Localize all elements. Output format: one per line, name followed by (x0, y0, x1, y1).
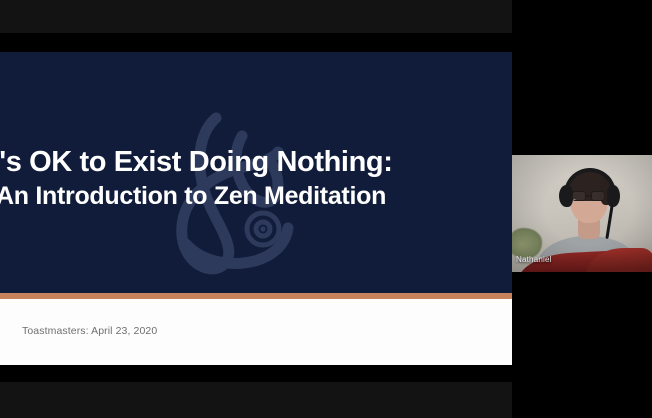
letterbox-gap-bottom (0, 365, 512, 382)
letterbox-bottom (0, 382, 512, 418)
letterbox-gap-top (0, 33, 512, 52)
slide-title-line-2: An Introduction to Zen Meditation (0, 180, 512, 213)
slide-navy-panel: t's OK to Exist Doing Nothing: An Introd… (0, 52, 512, 293)
shared-screen-slide[interactable]: t's OK to Exist Doing Nothing: An Introd… (0, 52, 512, 365)
participant-name-label: Nathaniel (516, 255, 552, 264)
meeting-stage: t's OK to Exist Doing Nothing: An Introd… (0, 0, 652, 418)
slide-title-line-1: t's OK to Exist Doing Nothing: (0, 144, 512, 180)
participant-video-tile[interactable]: Nathaniel (512, 155, 652, 272)
slide-footer-text: Toastmasters: April 23, 2020 (22, 325, 157, 337)
letterbox-top (0, 0, 512, 33)
slide-title-block: t's OK to Exist Doing Nothing: An Introd… (0, 144, 512, 213)
